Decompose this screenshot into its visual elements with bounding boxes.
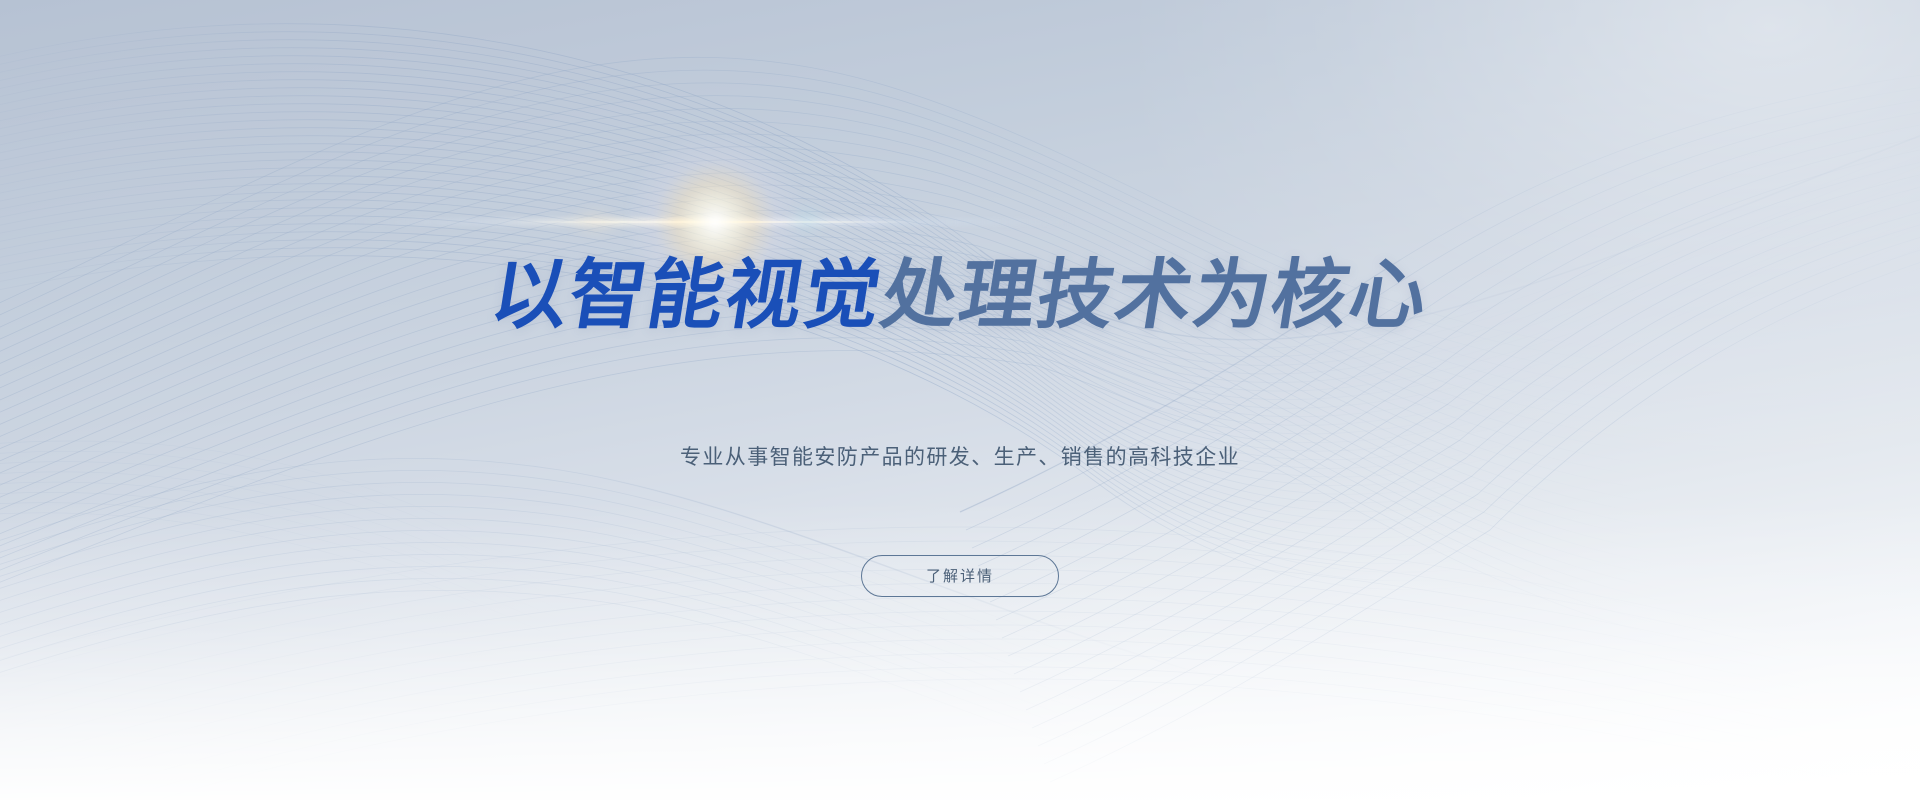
- hero-subtitle: 专业从事智能安防产品的研发、生产、销售的高科技企业: [680, 441, 1240, 471]
- hero-headline: 以智能视觉处理技术为核心: [486, 258, 1434, 334]
- hero-content: 以智能视觉处理技术为核心 专业从事智能安防产品的研发、生产、销售的高科技企业 了…: [0, 0, 1920, 800]
- learn-more-button[interactable]: 了解详情: [861, 555, 1059, 597]
- headline-segment-primary: 以智能视觉: [485, 253, 888, 338]
- hero-banner: 以智能视觉处理技术为核心 专业从事智能安防产品的研发、生产、销售的高科技企业 了…: [0, 0, 1920, 800]
- headline-segment-secondary: 处理技术为核心: [875, 253, 1434, 338]
